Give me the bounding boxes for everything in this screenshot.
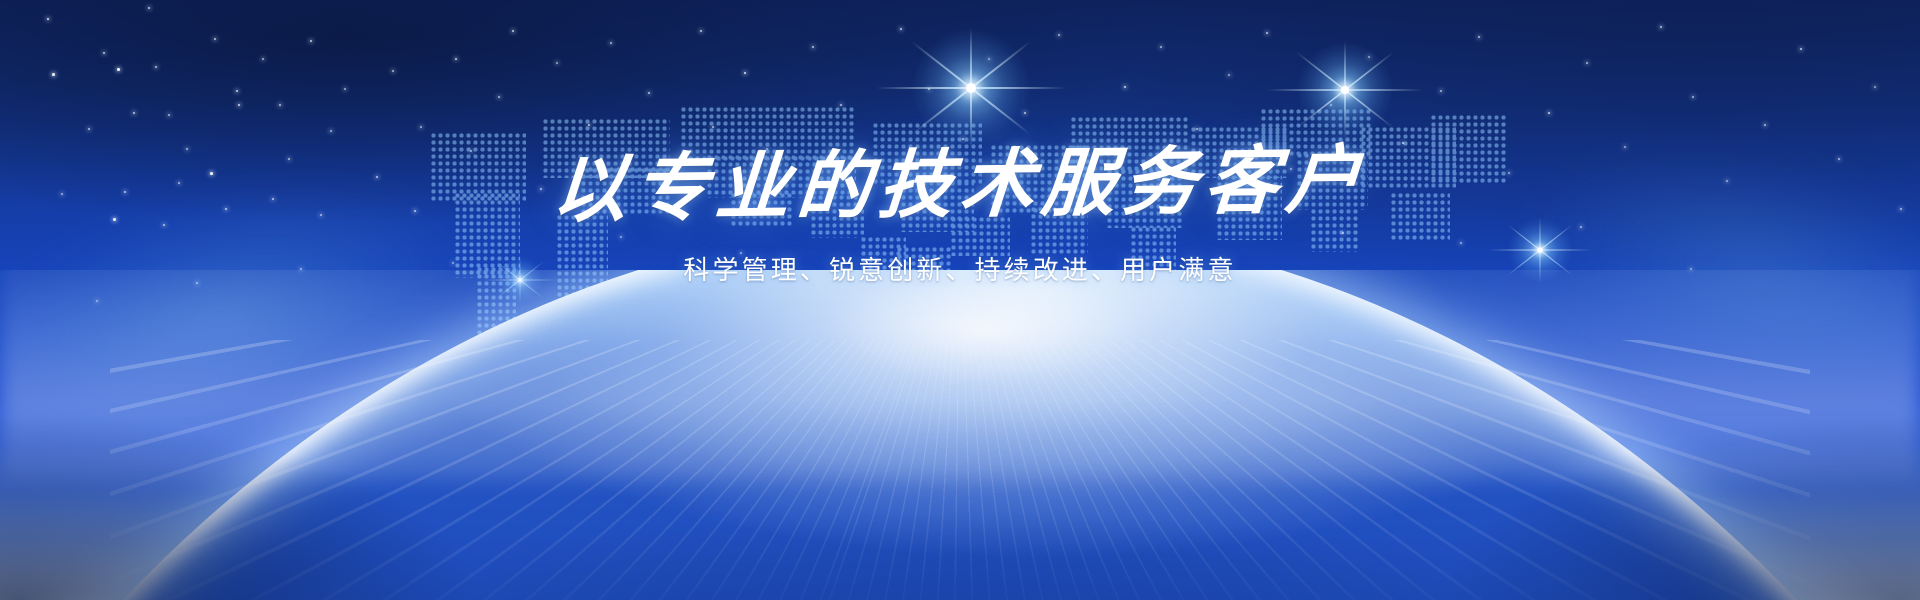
- hero-banner: 以专业的技术服务客户 科学管理、锐意创新、持续改进、用户满意: [0, 0, 1920, 600]
- corner-vignette: [0, 0, 1920, 600]
- banner-subheadline: 科学管理、锐意创新、持续改进、用户满意: [0, 250, 1920, 287]
- banner-headline: 以专业的技术服务客户: [0, 134, 1920, 236]
- banner-copy: 以专业的技术服务客户 科学管理、锐意创新、持续改进、用户满意: [0, 146, 1920, 287]
